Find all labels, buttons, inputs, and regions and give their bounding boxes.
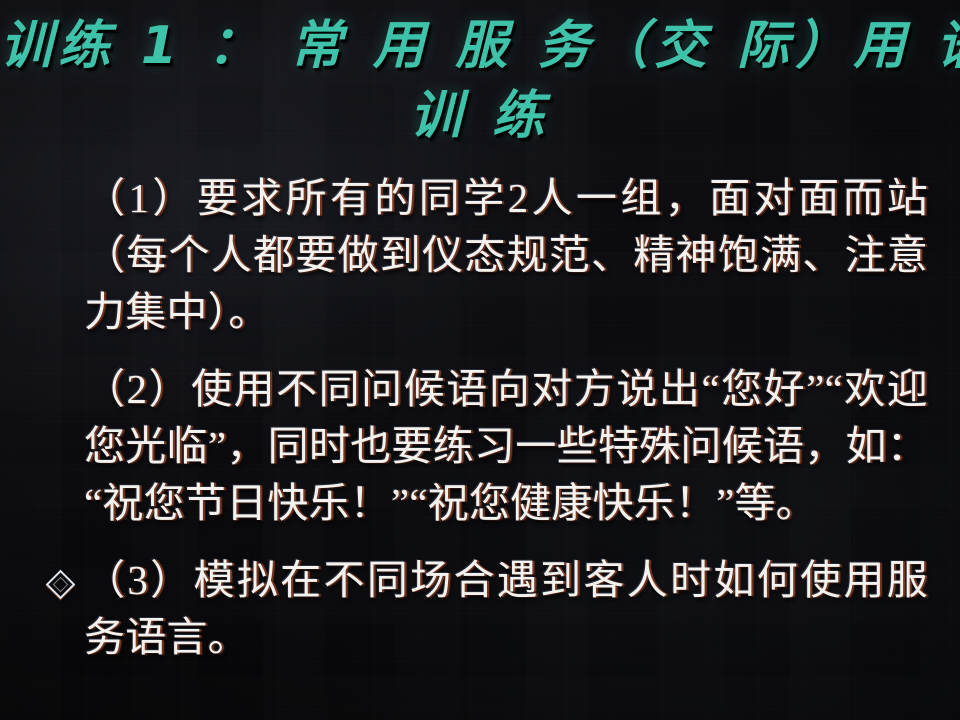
slide-bullet-item-2: （2）使用不同问候语向对方说出“您好”“欢迎您光临”，同时也要练习一些特殊问候语… [48,361,928,532]
slide-title-line-1: 训练 1 ： 常 用 服 务（交 际）用 语 [0,14,960,78]
slide-title: 训练 1 ： 常 用 服 务（交 际）用 语 训 练 [0,14,960,148]
slide-content: 训练 1 ： 常 用 服 务（交 际）用 语 训 练 （1）要求所有的同学2人一… [0,0,960,720]
slide-bullet-item-1-text: （1）要求所有的同学2人一组，面对面而站（每个人都要做到仪态规范、精神饱满、注意… [84,170,928,341]
slide-bullet-item-2-text: （2）使用不同问候语向对方说出“您好”“欢迎您光临”，同时也要练习一些特殊问候语… [84,361,928,532]
slide-bullet-item-3-text: （3）模拟在不同场合遇到客人时如何使用服务语言。 [84,552,928,666]
slide-title-line-2: 训 练 [0,84,960,148]
diamond-icon [46,570,76,600]
slide-bullet-item-3: （3）模拟在不同场合遇到客人时如何使用服务语言。 [48,552,928,666]
slide-body-list: （1）要求所有的同学2人一组，面对面而站（每个人都要做到仪态规范、精神饱满、注意… [48,170,928,666]
slide-bullet-item-1: （1）要求所有的同学2人一组，面对面而站（每个人都要做到仪态规范、精神饱满、注意… [48,170,928,341]
presentation-slide: 训练 1 ： 常 用 服 务（交 际）用 语 训 练 （1）要求所有的同学2人一… [0,0,960,720]
